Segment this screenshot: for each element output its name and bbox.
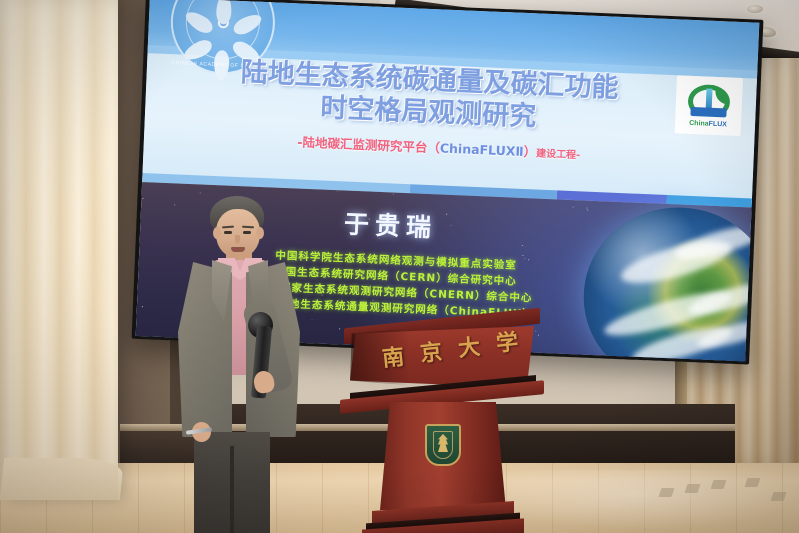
- subtitle-suffix: 建设工程-: [536, 148, 581, 161]
- podium-character: 学: [494, 324, 519, 358]
- speaker-ear: [256, 227, 264, 239]
- subtitle-paren-open: （: [427, 140, 440, 156]
- speaker-person: [168, 196, 308, 533]
- star: [587, 208, 588, 209]
- floor-marker: [659, 488, 675, 497]
- star: [574, 206, 575, 207]
- podium-character: 大: [456, 329, 481, 363]
- cas-petal: [182, 8, 215, 37]
- speaker-eye: [224, 231, 232, 234]
- floor-markers: [660, 478, 790, 496]
- speaker-nose: [235, 235, 240, 244]
- podium-character: 南: [380, 339, 405, 373]
- star: [337, 191, 338, 192]
- star: [522, 255, 523, 256]
- conference-photo-scene: CHINESE ACADEMY OF SCIENCES ChinaFLUX: [0, 0, 799, 533]
- cas-petal: [215, 0, 231, 25]
- star: [200, 192, 201, 193]
- star: [393, 194, 394, 195]
- speaker-ear: [213, 227, 221, 239]
- ceiling-spotlight-icon: [747, 5, 763, 13]
- curtain-hem: [0, 458, 124, 500]
- speaker-eye: [243, 231, 251, 234]
- floor-marker: [711, 480, 727, 489]
- nanjing-university-emblem: [425, 424, 461, 466]
- subtitle-english: ChinaFLUXⅡ: [440, 140, 524, 158]
- floor-marker: [685, 484, 701, 493]
- star: [587, 210, 588, 211]
- star: [311, 320, 312, 321]
- star: [572, 207, 573, 208]
- cas-petal: [230, 11, 264, 38]
- cas-emblem-petals: [184, 0, 261, 61]
- speaker-trouser-seam: [230, 446, 234, 533]
- left-curtain: [0, 0, 118, 500]
- podium-character: 京: [418, 334, 443, 368]
- lectern-podium: 南京大学: [336, 318, 548, 533]
- floor-marker: [745, 478, 761, 487]
